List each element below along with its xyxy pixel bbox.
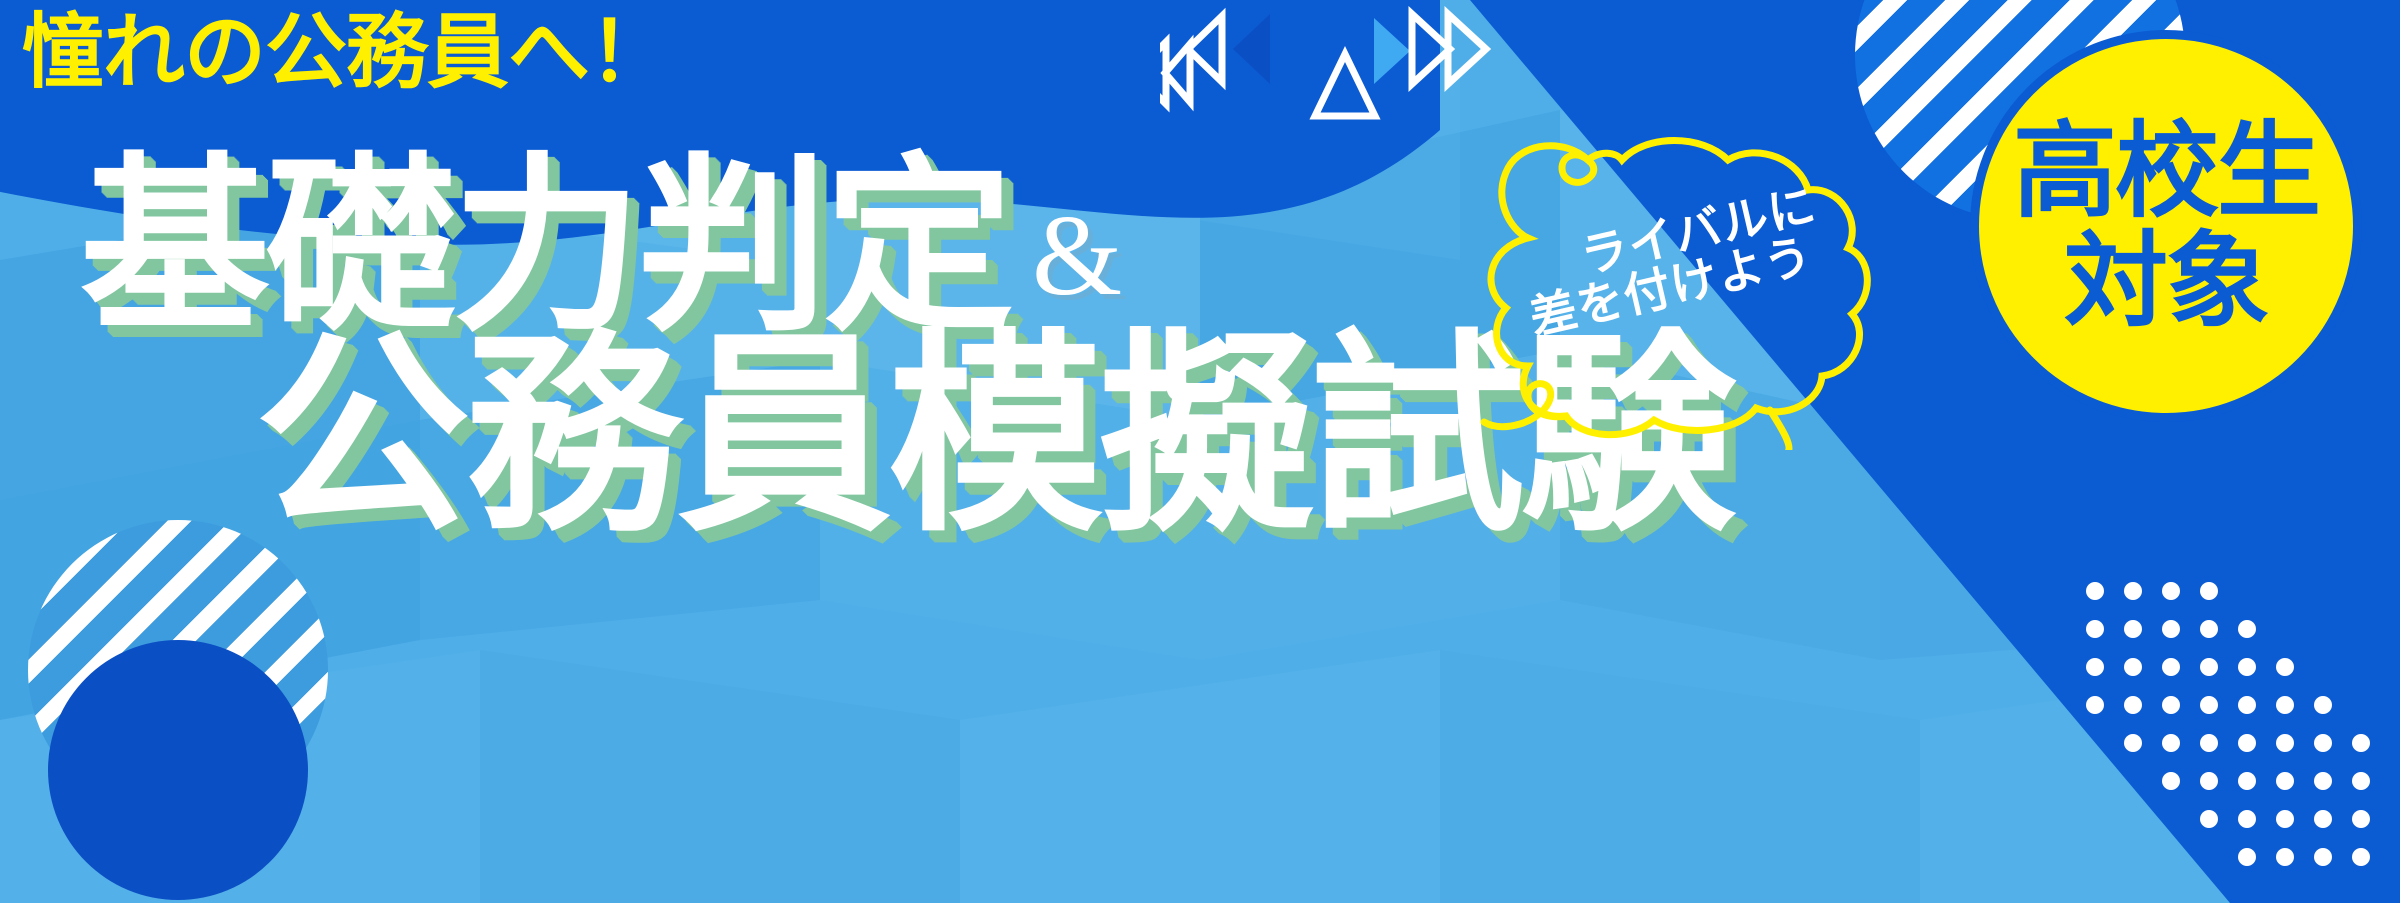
speech-bubble: ライバルに 差を付けよう <box>1470 120 1940 450</box>
ampersand-symbol: & <box>1032 192 1122 320</box>
arrow-decoration-group <box>1160 0 1500 141</box>
promo-banner: 憧れの公務員へ！ 基礎力判定& 公務員模擬試験 ライバルに 差を付けよう 高校生… <box>0 0 2400 903</box>
triangle-left-solid-icon <box>1233 14 1270 84</box>
badge-line-1: 高校生 <box>2013 118 2319 224</box>
triangle-right-outline-icon <box>1412 14 1450 84</box>
solid-circle-bottom-left <box>48 640 308 900</box>
target-audience-badge: 高校生 対象 <box>1970 30 2362 422</box>
triangle-up-outline-icon <box>1315 54 1375 116</box>
dot-grid-decoration <box>2075 573 2395 903</box>
top-headline: 憧れの公務員へ！ <box>22 12 670 94</box>
speech-bubble-outline <box>1470 120 1940 450</box>
badge-line-2: 対象 <box>2064 228 2268 334</box>
triangle-right-solid-icon <box>1374 18 1410 84</box>
